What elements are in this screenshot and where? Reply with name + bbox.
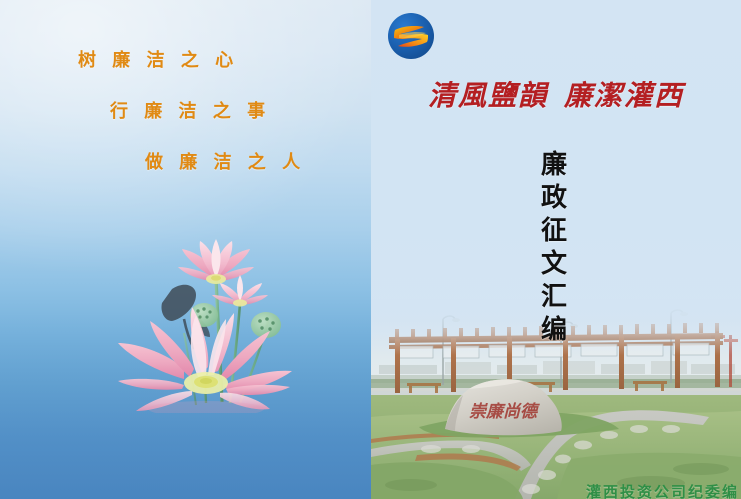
vertical-title-char-3: 征 — [541, 218, 567, 244]
lotus-illustration — [112, 237, 298, 413]
cover-title-part2: 廉潔灌西 — [564, 79, 684, 112]
front-cover-panel: 清風鹽韻廉潔灌西 廉 政 征 文 汇 编 — [371, 0, 741, 499]
monument-inscription: 崇廉尚德 — [469, 402, 540, 422]
verse-line-1: 树 廉 洁 之 心 — [78, 52, 371, 70]
vertical-title-char-6: 编 — [541, 317, 567, 343]
vertical-title-char-1: 廉 — [541, 152, 567, 178]
cover-title: 清風鹽韻廉潔灌西 — [371, 74, 741, 114]
vertical-title-char-5: 汇 — [541, 284, 567, 310]
verse-line-3: 做 廉 洁 之 人 — [145, 154, 371, 172]
vertical-title-char-4: 文 — [541, 251, 567, 277]
booklet-cover-spread: 树 廉 洁 之 心 行 廉 洁 之 事 做 廉 洁 之 人 — [0, 0, 741, 499]
vertical-title: 廉 政 征 文 汇 编 — [532, 152, 576, 350]
back-cover-panel: 树 廉 洁 之 心 行 廉 洁 之 事 做 廉 洁 之 人 — [0, 0, 371, 499]
verse-line-2: 行 廉 洁 之 事 — [110, 103, 371, 121]
verse-block: 树 廉 洁 之 心 行 廉 洁 之 事 做 廉 洁 之 人 — [0, 52, 371, 172]
cover-title-part1: 清風鹽韻 — [428, 79, 548, 112]
company-logo — [386, 11, 436, 61]
publisher-credit: 灌西投资公司纪委编 — [586, 481, 739, 499]
vertical-title-char-2: 政 — [541, 185, 567, 211]
